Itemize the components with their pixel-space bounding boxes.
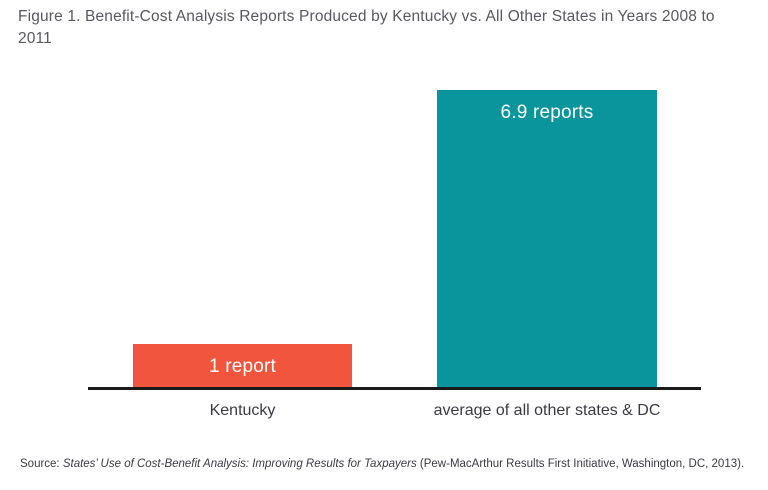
bar-value-label-kentucky: 1 report xyxy=(133,355,352,379)
chart-plot-area: 1 report 6.9 reports Kentucky average of… xyxy=(0,60,768,435)
source-note: Source: States’ Use of Cost-Benefit Anal… xyxy=(20,456,760,472)
bar-value-label-average: 6.9 reports xyxy=(437,101,657,125)
x-axis-tick-label-kentucky: Kentucky xyxy=(133,400,352,422)
x-axis-tick-label-average: average of all other states & DC xyxy=(397,400,697,422)
x-axis-line xyxy=(88,387,701,390)
source-suffix: (Pew-MacArthur Results First Initiative,… xyxy=(417,458,744,470)
bar-kentucky: 1 report xyxy=(133,344,352,387)
bar-average-all-other-states: 6.9 reports xyxy=(437,90,657,387)
page-title: Figure 1. Benefit-Cost Analysis Reports … xyxy=(18,6,753,50)
source-publication-title: States’ Use of Cost-Benefit Analysis: Im… xyxy=(63,458,417,470)
source-prefix: Source: xyxy=(20,458,63,470)
